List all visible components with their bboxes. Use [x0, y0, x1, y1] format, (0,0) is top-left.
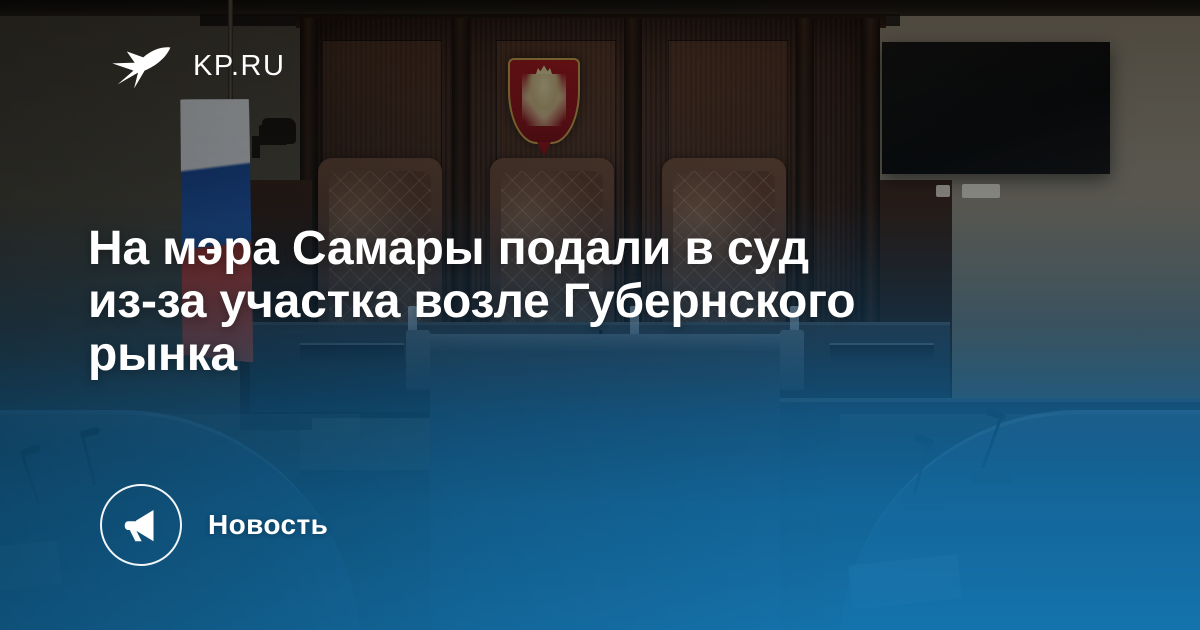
brand-logo[interactable]: KP.RU — [107, 33, 285, 99]
swallow-bird-icon — [107, 33, 173, 99]
news-type-label: Новость — [208, 509, 328, 541]
headline-line-3: рынка — [88, 328, 1048, 381]
news-type-badge[interactable]: Новость — [100, 484, 328, 566]
news-share-card: KP.RU На мэра Самары подали в суд из-за … — [0, 0, 1200, 630]
headline-line-1: На мэра Самары подали в суд — [88, 222, 1048, 275]
headline: На мэра Самары подали в суд из-за участк… — [88, 222, 1048, 381]
brand-wordmark: KP.RU — [193, 52, 285, 81]
headline-line-2: из-за участка возле Губернского — [88, 275, 1048, 328]
megaphone-icon-ring — [100, 484, 182, 566]
megaphone-icon — [121, 505, 161, 545]
